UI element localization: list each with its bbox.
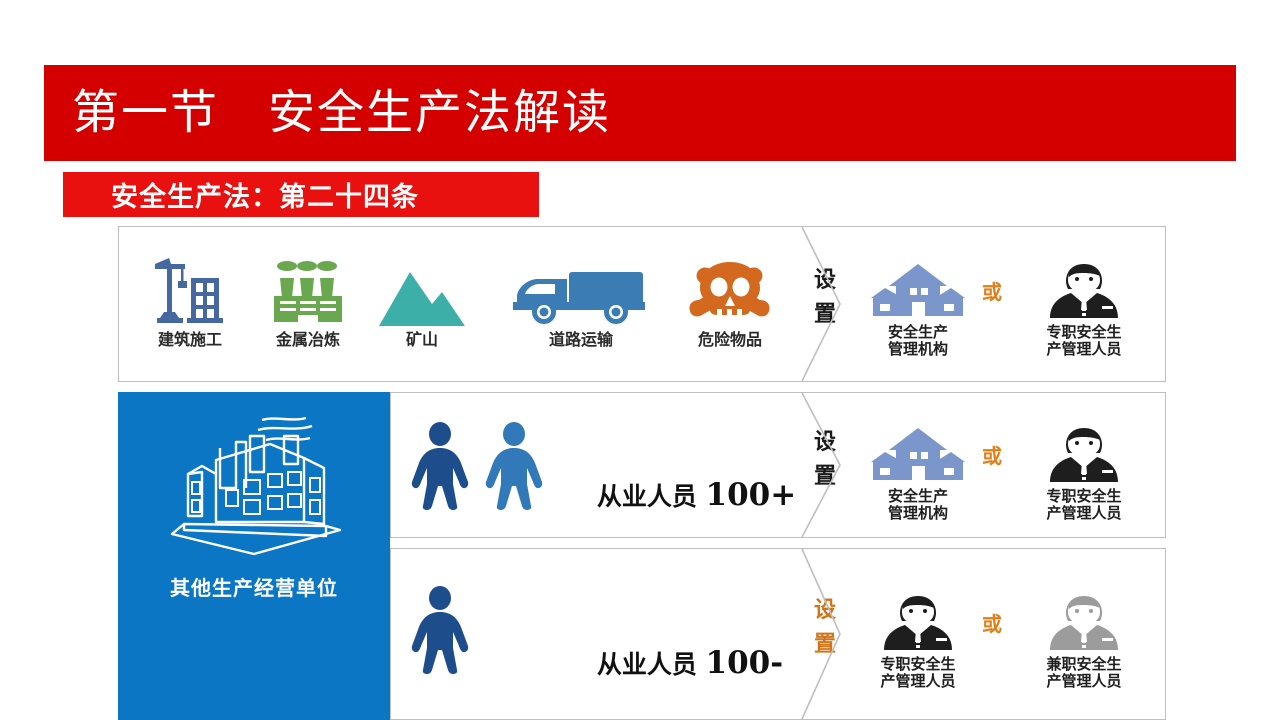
other-entities-label: 其他生产经营单位	[118, 572, 390, 601]
person-dark-icon	[1028, 416, 1140, 486]
article-24-diagram: 建筑施工	[110, 226, 1166, 720]
option-cell-fulltime-officer-row1: 专职安全生 产管理人员	[1028, 252, 1140, 358]
or-label-row2: 或	[982, 440, 1002, 469]
industry-cell-metal-smelting: 金属冶炼	[248, 252, 368, 349]
other-entities-panel: 其他生产经营单位	[118, 392, 390, 720]
industry-label: 危险物品	[670, 331, 790, 349]
building-icon	[862, 252, 974, 322]
action-char: 设	[810, 264, 840, 298]
industry-cell-hazardous-goods: 危险物品	[670, 252, 790, 349]
count-value: 100+	[706, 477, 797, 513]
option-cell-safety-org-row2: 安全生产 管理机构	[862, 416, 974, 522]
industry-label: 矿山	[362, 331, 482, 349]
option-cell-safety-org-row1: 安全生产 管理机构	[862, 252, 974, 358]
count-prefix: 从业人员	[597, 482, 706, 511]
person-blue-icon	[484, 422, 544, 514]
option-label: 安全生产 管理机构	[862, 324, 974, 358]
action-char: 设	[810, 426, 840, 460]
option-cell-fulltime-officer-row3: 专职安全生 产管理人员	[862, 584, 974, 690]
people-group-row2	[410, 422, 544, 514]
action-char: 置	[810, 460, 840, 494]
option-cell-fulltime-officer-row2: 专职安全生 产管理人员	[1028, 416, 1140, 522]
action-char: 置	[810, 628, 840, 662]
truck-icon	[496, 252, 666, 328]
option-cell-parttime-officer-row3: 兼职安全生 产管理人员	[1028, 584, 1140, 690]
count-prefix: 从业人员	[597, 650, 706, 679]
option-label: 专职安全生 产管理人员	[862, 656, 974, 690]
building-icon	[862, 416, 974, 486]
factory-icon	[248, 252, 368, 328]
industry-label: 金属冶炼	[248, 331, 368, 349]
option-label: 安全生产 管理机构	[862, 488, 974, 522]
factory-line-icon	[154, 412, 354, 566]
option-label: 兼职安全生 产管理人员	[1028, 656, 1140, 690]
person-dark-icon	[862, 584, 974, 654]
industry-cell-construction: 建筑施工	[130, 252, 250, 349]
person-navy-icon	[410, 422, 470, 514]
or-label-row3: 或	[982, 608, 1002, 637]
industry-label: 道路运输	[496, 331, 666, 349]
mountain-icon	[362, 252, 482, 328]
action-char: 设	[810, 594, 840, 628]
employee-count-row2: 从业人员 100+	[562, 448, 796, 542]
people-group-row3	[410, 586, 470, 678]
option-label: 专职安全生 产管理人员	[1028, 324, 1140, 358]
action-label-row1: 设 置	[810, 264, 840, 332]
person-gray-icon	[1028, 584, 1140, 654]
action-label-row3: 设 置	[810, 594, 840, 662]
person-navy-icon	[410, 586, 470, 678]
industry-cell-road-transport: 道路运输	[496, 252, 666, 349]
section-title-banner: 第一节 安全生产法解读	[44, 65, 1236, 161]
or-label-row1: 或	[982, 276, 1002, 305]
crane-icon	[130, 252, 250, 328]
page-title: 第一节 安全生产法解读	[72, 90, 611, 137]
employee-count-row3: 从业人员 100-	[562, 616, 783, 710]
skull-icon	[670, 252, 790, 328]
person-dark-icon	[1028, 252, 1140, 322]
subtitle-text: 安全生产法：第二十四条	[111, 175, 419, 214]
option-label: 专职安全生 产管理人员	[1028, 488, 1140, 522]
industry-cell-mining: 矿山	[362, 252, 482, 349]
industry-label: 建筑施工	[130, 331, 250, 349]
subtitle-chip: 安全生产法：第二十四条	[63, 172, 539, 217]
count-value: 100-	[706, 645, 784, 681]
action-char: 置	[810, 298, 840, 332]
action-label-row2: 设 置	[810, 426, 840, 494]
